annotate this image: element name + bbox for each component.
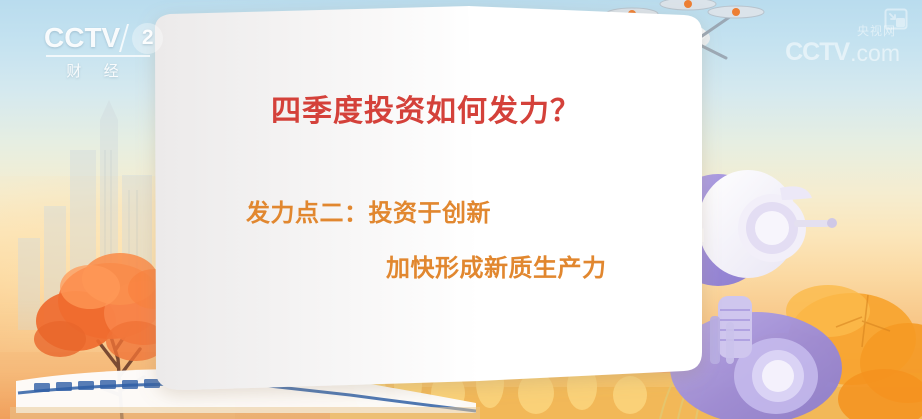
channel-logo: CCTV 2 财 经 [44,22,184,84]
cctv-com-watermark: 央视网 CCTV .com [785,38,900,67]
channel-logo-row: CCTV 2 [44,22,184,54]
channel-logo-underline [46,55,150,57]
broadcast-frame: CRH [0,0,922,419]
picture-in-picture-icon[interactable] [884,8,908,30]
subtitle-line-2: 加快形成新质生产力 [386,248,607,283]
page-title: 四季度投资如何发力？ [148,86,704,130]
card-text-layer: 四季度投资如何发力？ 发力点二：投资于创新 加快形成新质生产力 [148,8,704,376]
subtitle-line-1: 发力点二：投资于创新 [246,193,491,228]
channel-logo-slash [119,24,129,52]
channel-logo-number: 2 [132,23,163,54]
watermark-brand: CCTV [785,38,849,67]
channel-logo-subtitle: 财 经 [44,60,150,81]
svg-text:CRH: CRH [186,381,206,391]
watermark-domain: .com [850,40,900,67]
channel-logo-brand: CCTV [44,22,120,54]
